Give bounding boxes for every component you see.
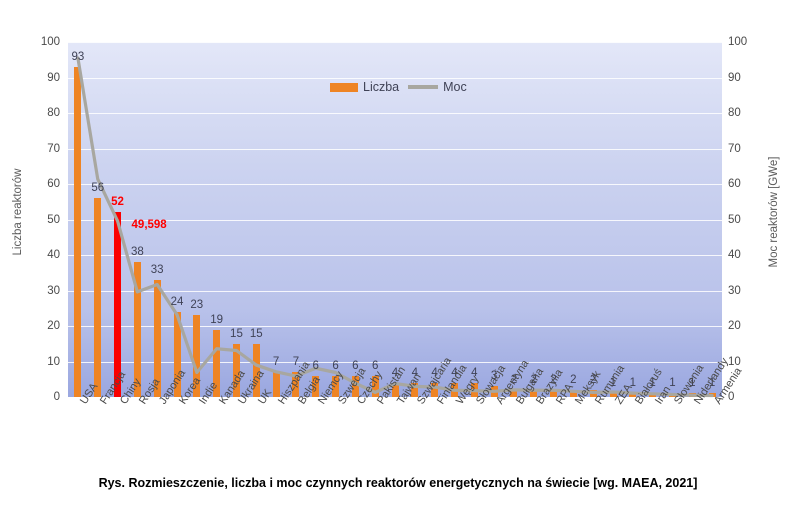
y-tick-right: 0 xyxy=(728,392,762,402)
legend-item-liczba: Liczba xyxy=(330,80,399,94)
y-axis-right-title: Moc reaktorów [GWe] xyxy=(768,132,780,292)
china-power-annotation: 49,598 xyxy=(132,219,167,231)
y-tick-right: 70 xyxy=(728,144,762,154)
y-tick-right: 30 xyxy=(728,286,762,296)
bar-value-label: 93 xyxy=(58,52,98,63)
y-tick-left: 10 xyxy=(26,357,60,367)
y-tick-left: 90 xyxy=(26,73,60,83)
bar-value-label: 23 xyxy=(177,300,217,311)
bar-value-label: 56 xyxy=(78,183,118,194)
moc-line-path xyxy=(78,58,712,396)
bar-value-label: 38 xyxy=(117,247,157,258)
figure-container: 9356523833242319151577666644444322222111… xyxy=(0,0,796,511)
y-tick-left: 20 xyxy=(26,321,60,331)
chart-legend: Liczba Moc xyxy=(330,80,467,94)
y-axis-left-title: Liczba reaktorów xyxy=(12,132,24,292)
y-tick-left: 80 xyxy=(26,108,60,118)
y-tick-right: 60 xyxy=(728,179,762,189)
y-tick-right: 50 xyxy=(728,215,762,225)
y-tick-left: 70 xyxy=(26,144,60,154)
y-tick-right: 100 xyxy=(728,37,762,47)
y-tick-left: 60 xyxy=(26,179,60,189)
bar-value-label: 15 xyxy=(236,329,276,340)
legend-item-moc: Moc xyxy=(408,80,467,94)
y-tick-right: 80 xyxy=(728,108,762,118)
legend-line-swatch-icon xyxy=(408,85,438,89)
y-tick-left: 40 xyxy=(26,250,60,260)
y-tick-left: 100 xyxy=(26,37,60,47)
figure-caption: Rys. Rozmieszczenie, liczba i moc czynny… xyxy=(0,476,796,490)
y-tick-left: 30 xyxy=(26,286,60,296)
chart-plot-region: 9356523833242319151577666644444322222111… xyxy=(0,0,796,470)
y-tick-right: 40 xyxy=(728,250,762,260)
legend-label-moc: Moc xyxy=(443,80,467,94)
y-tick-right: 20 xyxy=(728,321,762,331)
y-tick-right: 90 xyxy=(728,73,762,83)
legend-label-liczba: Liczba xyxy=(363,80,399,94)
bar-value-label: 52 xyxy=(98,197,138,208)
y-tick-left: 0 xyxy=(26,392,60,402)
bar-value-label: 33 xyxy=(137,265,177,276)
bar-value-label: 19 xyxy=(197,315,237,326)
legend-bar-swatch-icon xyxy=(330,83,358,92)
y-tick-left: 50 xyxy=(26,215,60,225)
